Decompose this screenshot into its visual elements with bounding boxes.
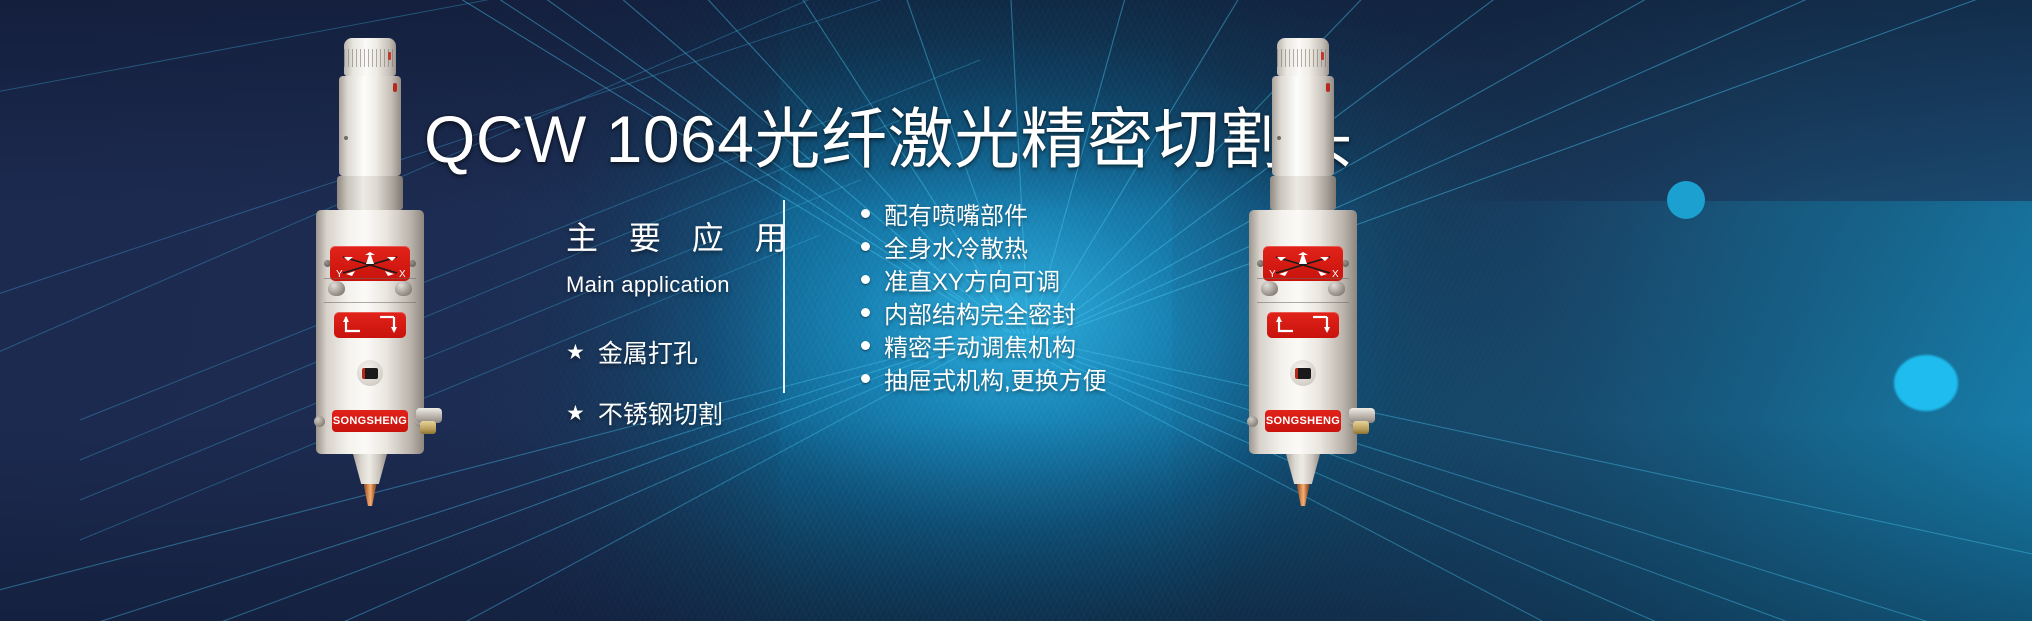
nozzle-holder xyxy=(353,454,387,484)
application-heading-en: Main application xyxy=(566,272,798,298)
list-item: 内部结构完全密封 xyxy=(861,296,1107,329)
tube-screw xyxy=(1277,136,1281,140)
list-item: ★ 不锈钢切割 xyxy=(566,395,798,431)
bullet-icon xyxy=(861,374,870,383)
tube-screw xyxy=(344,136,348,140)
list-item: 抽屉式机构,更换方便 xyxy=(861,362,1107,395)
drawer-direction-label xyxy=(334,312,406,338)
brand-name: SONGSHENG xyxy=(1266,415,1340,427)
application-item-label: 不锈钢切割 xyxy=(598,395,723,431)
body-seam xyxy=(1257,278,1349,279)
cap-red-marker xyxy=(388,52,391,60)
body-seam xyxy=(1257,302,1349,303)
vertical-divider xyxy=(783,200,785,393)
drawer-arrows-icon xyxy=(334,312,406,338)
body-footer xyxy=(316,432,424,454)
adjust-knob-left xyxy=(1261,281,1278,296)
axis-adjust-label: Y X xyxy=(1263,246,1343,281)
main-application-block: 主 要 应 用 Main application ★ 金属打孔 ★ 不锈钢切割 xyxy=(566,222,798,456)
nozzle-tip xyxy=(1297,484,1310,506)
accent-circle-large xyxy=(1667,181,1705,219)
star-icon: ★ xyxy=(566,342,585,363)
side-port-connector xyxy=(416,404,444,434)
feature-list: 配有喷嘴部件 全身水冷散热 准直XY方向可调 内部结构完全密封 精密手动调焦机构… xyxy=(861,197,1107,395)
list-item: ★ 金属打孔 xyxy=(566,334,798,370)
list-item: 全身水冷散热 xyxy=(861,230,1107,263)
brand-screw-left xyxy=(1247,416,1258,427)
window-chip xyxy=(1295,368,1311,379)
product-image-left: Y X xyxy=(316,38,424,506)
accent-circle-bottom xyxy=(1894,355,1958,411)
bullet-icon xyxy=(861,209,870,218)
side-port-fitting xyxy=(1353,421,1369,434)
feature-label: 精密手动调焦机构 xyxy=(884,328,1076,363)
feature-label: 抽屉式机构,更换方便 xyxy=(884,361,1107,396)
brand-screw-left xyxy=(314,416,325,427)
adjust-knob-right xyxy=(1328,281,1345,296)
body-shoulder xyxy=(1249,220,1357,246)
product-top-cap xyxy=(1277,38,1329,76)
brand-label: SONGSHENG xyxy=(1265,410,1341,432)
nozzle-holder xyxy=(1286,454,1320,484)
product-top-cap xyxy=(344,38,396,76)
bullet-icon xyxy=(861,341,870,350)
application-list: ★ 金属打孔 ★ 不锈钢切割 xyxy=(566,334,798,431)
body-footer xyxy=(1249,432,1357,454)
product-image-right: Y X xyxy=(1249,38,1357,506)
tube-red-marker xyxy=(1326,83,1330,92)
drawer-arrows-icon xyxy=(1267,312,1339,338)
tube-red-marker xyxy=(393,83,397,92)
product-collimator-tube xyxy=(339,76,401,176)
page-title: QCW 1064光纤激光精密切割头 xyxy=(424,101,1353,179)
body-seam xyxy=(324,302,416,303)
product-banner: QCW 1064光纤激光精密切割头 主 要 应 用 Main applicati… xyxy=(0,0,2032,621)
product-collimator-tube xyxy=(1272,76,1334,176)
axis-adjust-label: Y X xyxy=(330,246,410,281)
brand-name: SONGSHENG xyxy=(333,415,407,427)
product-collar xyxy=(337,176,403,210)
side-port-connector xyxy=(1349,404,1377,434)
body-shoulder xyxy=(316,220,424,246)
application-item-label: 金属打孔 xyxy=(598,334,698,370)
product-collar xyxy=(1270,176,1336,210)
list-item: 精密手动调焦机构 xyxy=(861,329,1107,362)
axis-adjust-icon: Y X xyxy=(1263,246,1343,281)
nozzle-tip xyxy=(364,484,377,506)
cap-red-marker xyxy=(1321,52,1324,60)
feature-label: 内部结构完全密封 xyxy=(884,295,1076,330)
body-seam xyxy=(324,278,416,279)
side-port-fitting xyxy=(420,421,436,434)
axis-adjust-icon: Y X xyxy=(330,246,410,281)
feature-label: 准直XY方向可调 xyxy=(884,262,1060,297)
list-item: 配有喷嘴部件 xyxy=(861,197,1107,230)
bullet-icon xyxy=(861,242,870,251)
body-screw xyxy=(1342,260,1349,267)
adjust-knob-left xyxy=(328,281,345,296)
inspection-window xyxy=(357,360,383,386)
star-icon: ★ xyxy=(566,403,585,424)
feature-label: 配有喷嘴部件 xyxy=(884,196,1028,231)
brand-label: SONGSHENG xyxy=(332,410,408,432)
adjust-knob-right xyxy=(395,281,412,296)
feature-label: 全身水冷散热 xyxy=(884,229,1028,264)
bullet-icon xyxy=(861,308,870,317)
bullet-icon xyxy=(861,275,870,284)
product-body: Y X xyxy=(1249,210,1357,454)
body-screw xyxy=(409,260,416,267)
window-chip xyxy=(362,368,378,379)
application-heading-cn: 主 要 应 用 xyxy=(566,222,798,254)
list-item: 准直XY方向可调 xyxy=(861,263,1107,296)
drawer-direction-label xyxy=(1267,312,1339,338)
inspection-window xyxy=(1290,360,1316,386)
product-body: Y X xyxy=(316,210,424,454)
